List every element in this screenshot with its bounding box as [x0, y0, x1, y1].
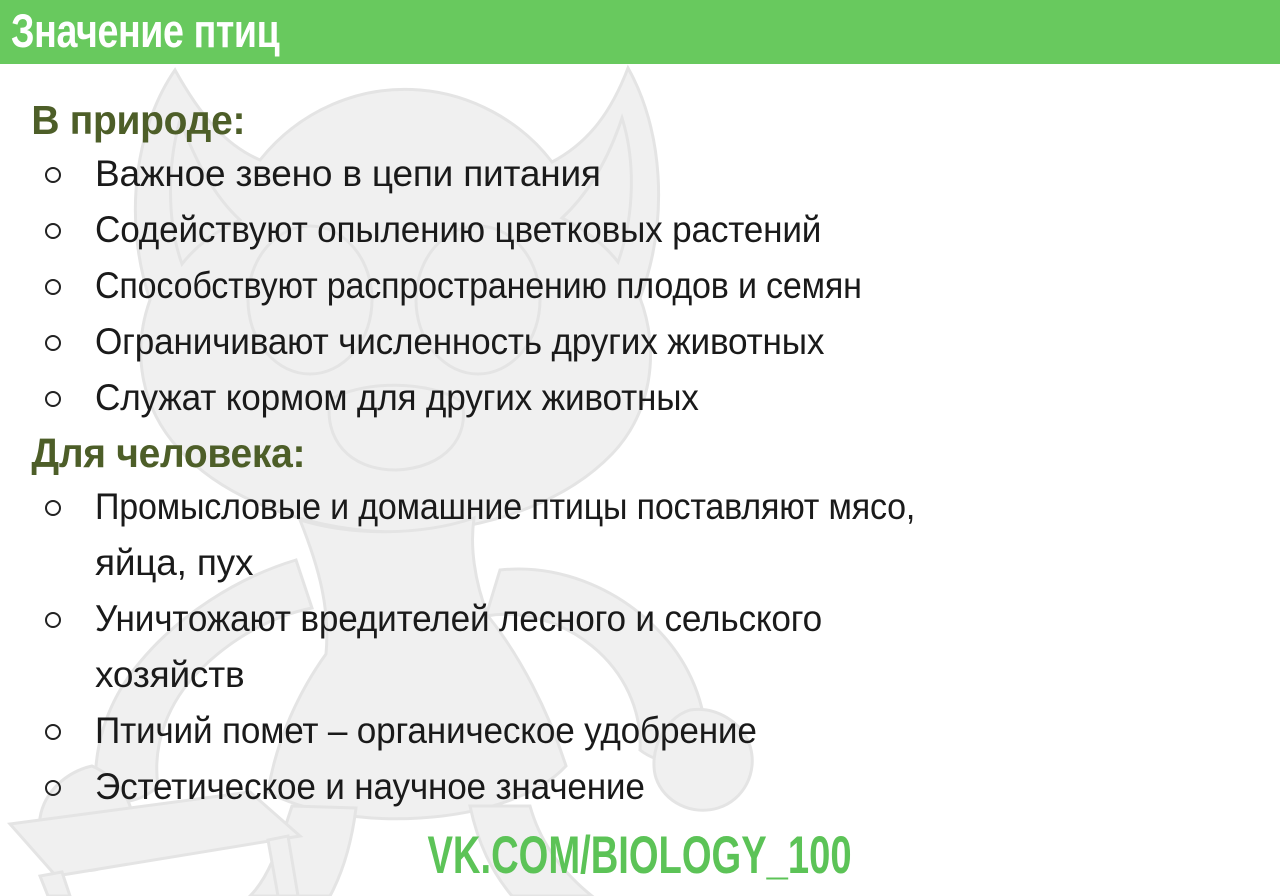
list-item: Промысловые и домашние птицы поставляют … — [0, 479, 1280, 591]
vk-watermark: VK.COM/BIOLOGY_100 — [0, 826, 1280, 886]
bullet-circle-icon — [45, 202, 61, 258]
slide-content: В природе: Важное звено в цепи питания С… — [0, 64, 1280, 815]
page-title: Значение птиц — [11, 3, 279, 59]
list-item: Служат кормом для других животных — [0, 370, 1280, 426]
list-item: Важное звено в цепи питания — [0, 146, 1280, 202]
list-item-text-line: Промысловые и домашние птицы поставляют … — [95, 479, 1185, 535]
bullet-circle-icon — [45, 591, 61, 647]
vk-watermark-text: VK.COM/BIOLOGY_100 — [428, 826, 852, 886]
list-item: Ограничивают численность других животных — [0, 314, 1280, 370]
list-item-text-line: яйца, пух — [95, 535, 1280, 591]
human-bullet-list: Промысловые и домашние птицы поставляют … — [0, 479, 1280, 815]
bullet-circle-icon — [45, 370, 61, 426]
list-item: Содействуют опылению цветковых растений — [0, 202, 1280, 258]
list-item-text: Способствуют распространению плодов и се… — [95, 258, 862, 314]
list-item-text: Содействуют опылению цветковых растений — [95, 202, 821, 258]
bullet-circle-icon — [45, 479, 61, 535]
section-heading-human: Для человека: — [0, 427, 1216, 479]
bullet-circle-icon — [45, 258, 61, 314]
bullet-circle-icon — [45, 314, 61, 370]
title-banner: Значение птиц — [0, 0, 1280, 64]
list-item: Способствуют распространению плодов и се… — [0, 258, 1280, 314]
list-item-text: Ограничивают численность других животных — [95, 314, 824, 370]
list-item: Эстетическое и научное значение — [0, 759, 1280, 815]
list-item-text: Эстетическое и научное значение — [95, 759, 645, 815]
slide-canvas: Значение птиц В природе: Важное звено в … — [0, 0, 1280, 896]
list-item-text-line: Уничтожают вредителей лесного и сельског… — [95, 591, 1221, 647]
list-item-text: Птичий помет – органическое удобрение — [95, 703, 757, 759]
section-heading-nature: В природе: — [0, 94, 1216, 146]
bullet-circle-icon — [45, 703, 61, 759]
list-item-text-line: хозяйств — [95, 647, 1280, 703]
list-item: Уничтожают вредителей лесного и сельског… — [0, 591, 1280, 703]
nature-bullet-list: Важное звено в цепи питания Содействуют … — [0, 146, 1280, 426]
bullet-circle-icon — [45, 759, 61, 815]
list-item-text: Важное звено в цепи питания — [95, 146, 1280, 202]
list-item-text: Служат кормом для других животных — [95, 370, 699, 426]
list-item: Птичий помет – органическое удобрение — [0, 703, 1280, 759]
bullet-circle-icon — [45, 146, 61, 202]
